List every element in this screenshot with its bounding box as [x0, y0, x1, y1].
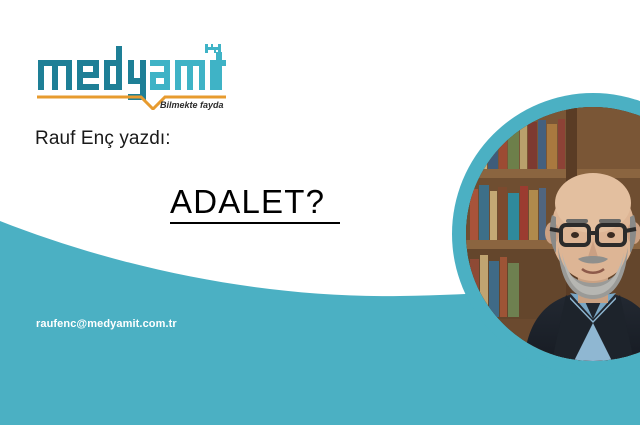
medyamit-logo[interactable]: Bilmekte fayda var: [36, 38, 226, 110]
logo-tagline: Bilmekte fayda var: [160, 100, 226, 110]
article-header-card: Bilmekte fayda var Rauf Enç yazdı: ADALE…: [0, 0, 640, 425]
avatar-photo: [466, 107, 640, 361]
broadcast-icon: [205, 44, 221, 53]
logo-wordmark-light: [150, 52, 226, 90]
logo-wordmark-dark: [38, 46, 146, 100]
page-title: ADALET?: [170, 185, 325, 218]
avatar: [452, 93, 640, 375]
author-email[interactable]: raufenc@medyamit.com.tr: [36, 318, 177, 330]
page-title-underline: [170, 222, 340, 224]
author-byline: Rauf Enç yazdı:: [35, 128, 171, 150]
